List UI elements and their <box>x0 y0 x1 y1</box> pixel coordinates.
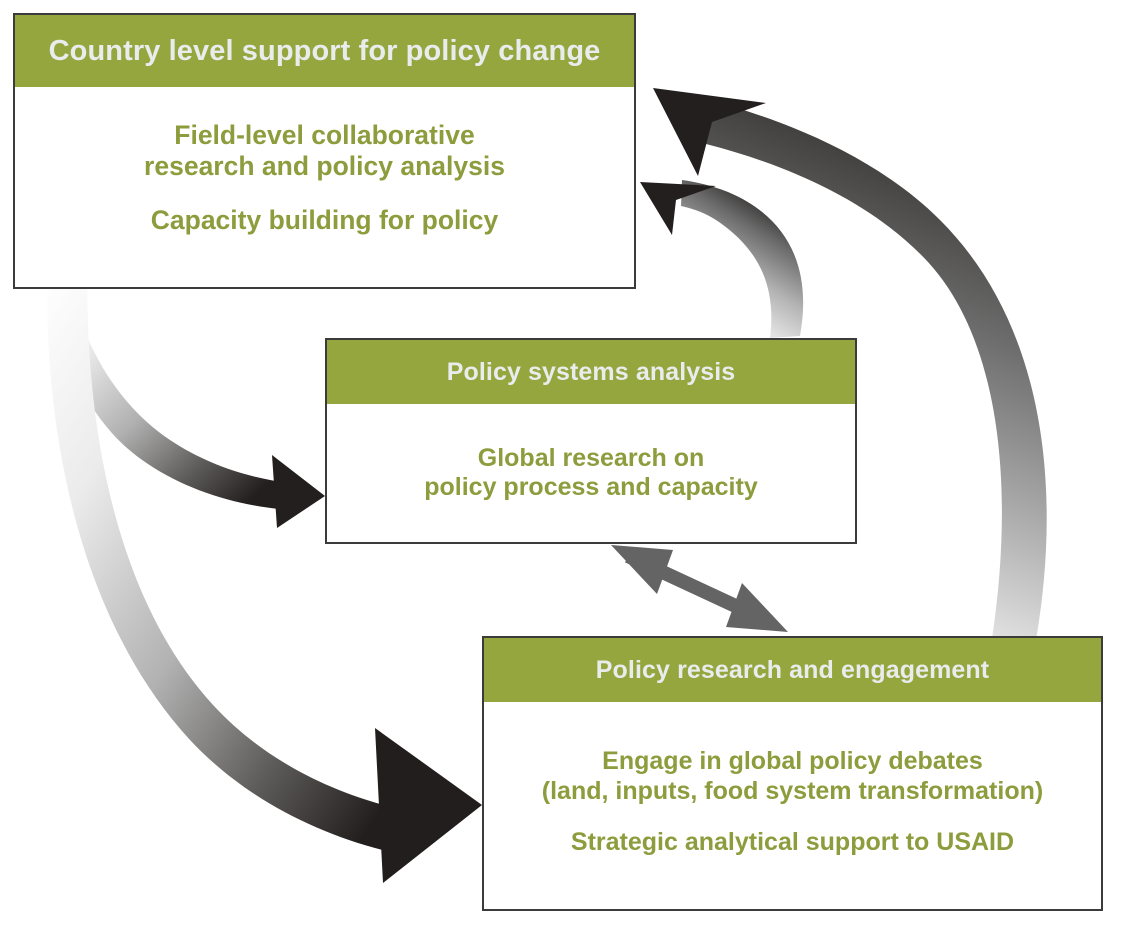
node-systems-body: Global research on policy process and ca… <box>327 404 855 542</box>
node-policy-systems-analysis[interactable]: Policy systems analysis Global research … <box>325 338 857 544</box>
diagram-canvas: Country level support for policy change … <box>0 0 1127 925</box>
node-country-body-line-1: Field-level collaborative <box>174 120 474 151</box>
node-research-body-line-3: Strategic analytical support to USAID <box>571 828 1014 858</box>
curved-arrow-country-to-systems <box>44 250 325 528</box>
double-headed-arrow-systems-research <box>611 545 788 632</box>
node-research-body-line-1: Engage in global policy debates <box>602 747 983 777</box>
node-systems-body-line-2: policy process and capacity <box>424 473 757 503</box>
node-systems-header: Policy systems analysis <box>327 340 855 404</box>
node-country-header: Country level support for policy change <box>15 15 634 87</box>
node-policy-research-and-engagement[interactable]: Policy research and engagement Engage in… <box>482 636 1103 911</box>
node-country-level-support[interactable]: Country level support for policy change … <box>13 13 636 289</box>
node-research-header: Policy research and engagement <box>484 638 1101 702</box>
node-country-body-line-3: Capacity building for policy <box>151 205 498 236</box>
node-country-body-line-2: research and policy analysis <box>144 151 505 182</box>
node-research-body-line-2: (land, inputs, food system transformatio… <box>542 777 1043 807</box>
node-research-body: Engage in global policy debates (land, i… <box>484 702 1101 909</box>
node-systems-body-line-1: Global research on <box>478 444 704 474</box>
curved-arrow-systems-to-country <box>640 180 803 338</box>
node-country-body: Field-level collaborative research and p… <box>15 87 634 287</box>
